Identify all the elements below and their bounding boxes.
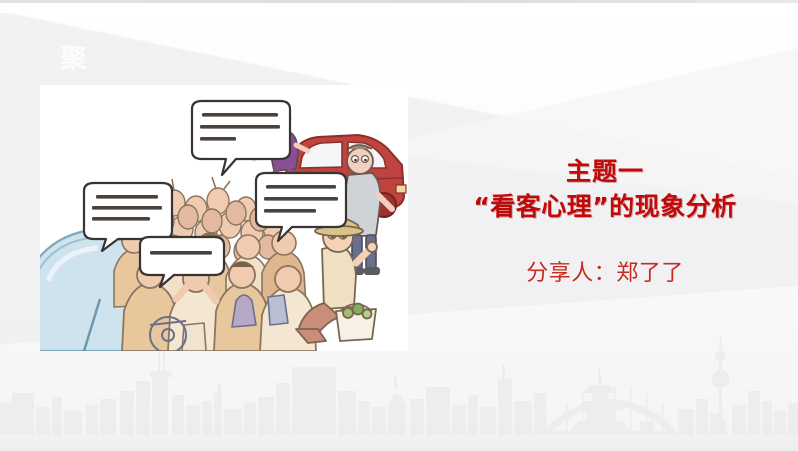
slide-title-line1: 主题一 xyxy=(430,155,780,189)
slide-bottom-strip xyxy=(0,435,798,451)
slide-top-border xyxy=(0,0,798,3)
city-skyline-silhouette xyxy=(0,335,798,443)
crowd-onlookers-illustration: 出什么事情了，是车祸还是被偷了？ 是个年轻人遭了，流血了，是谁打的？？ 让下，我… xyxy=(40,85,408,351)
corner-watermark-icon: 聚 xyxy=(60,42,94,76)
slide-canvas: 聚 xyxy=(0,0,798,451)
presenter-label: 分享人：郑了了 xyxy=(430,259,780,289)
illustration-artwork xyxy=(40,85,408,351)
title-block: 主题一 “看客心理”的现象分析 分享人：郑了了 xyxy=(430,155,780,289)
slide-title-line2: “看客心理”的现象分析 xyxy=(430,189,780,225)
